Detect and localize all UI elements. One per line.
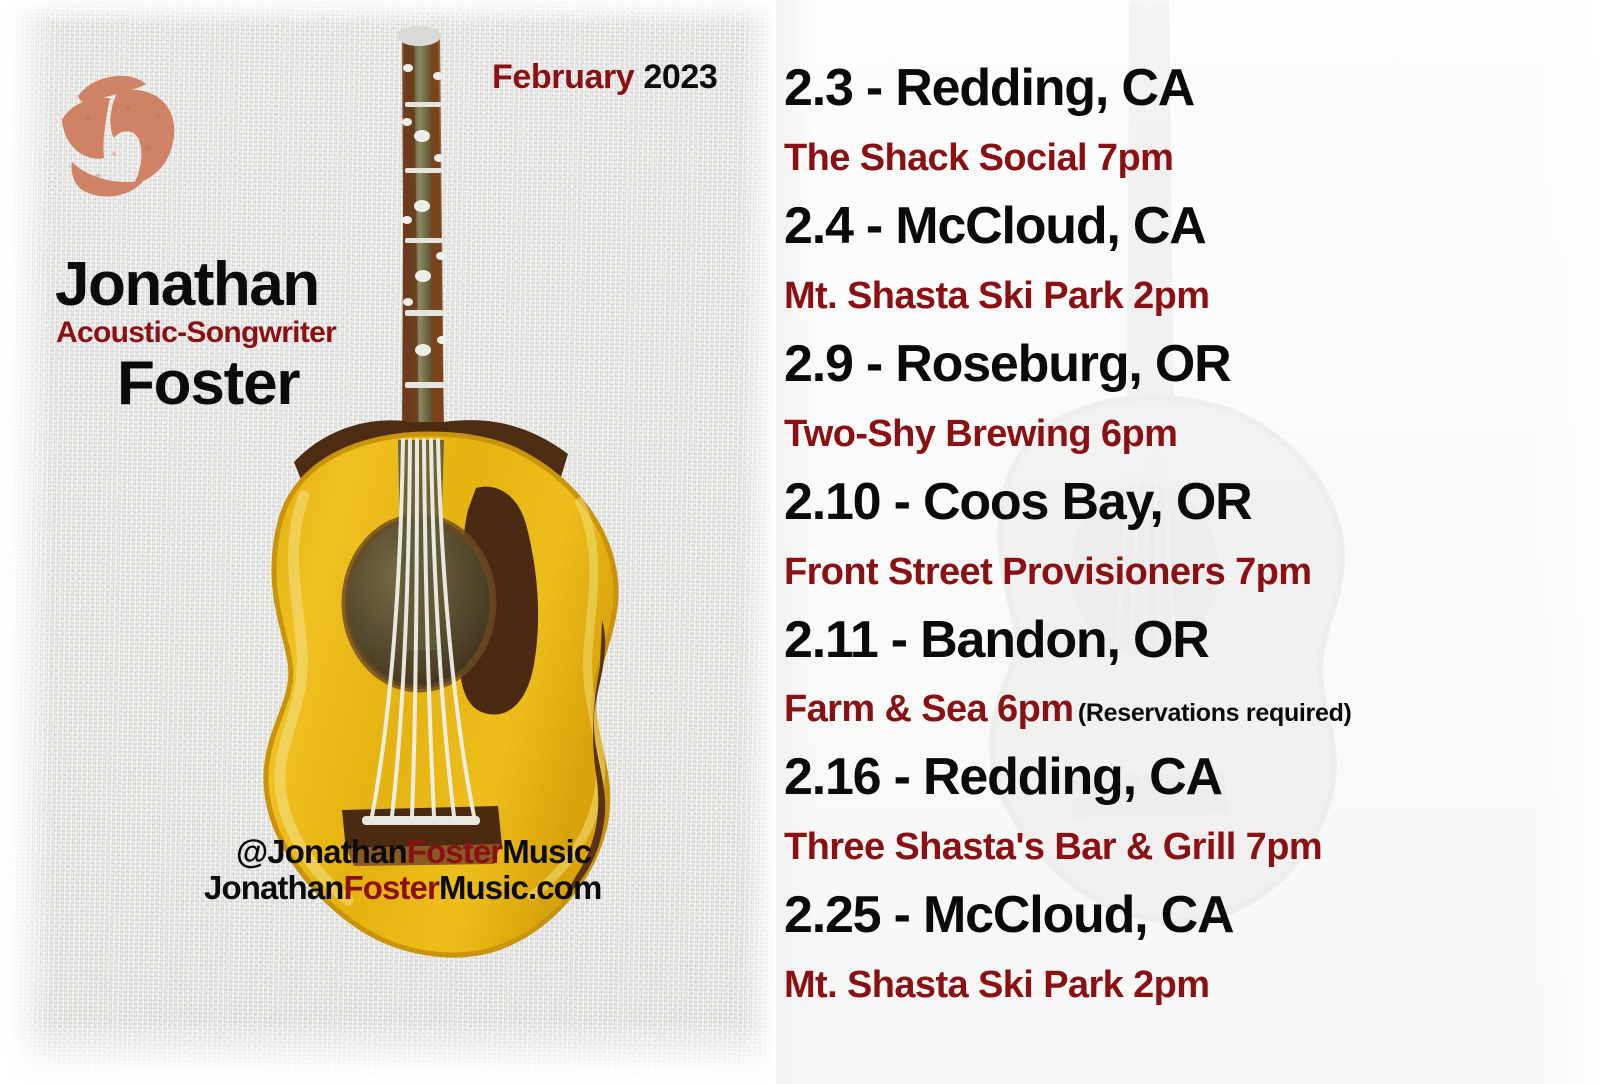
social-handle[interactable]: @JonathanFosterMusic — [236, 833, 591, 871]
handle-suffix: Music — [502, 833, 591, 870]
website-suffix: Music.com — [439, 869, 601, 906]
artist-first-name: Jonathan — [55, 249, 319, 320]
artist-last-name: Foster — [117, 348, 299, 419]
show-city-4: 2.11 - Bandon, OR — [784, 610, 1209, 670]
show-city-3: 2.10 - Coos Bay, OR — [784, 472, 1252, 532]
show-venue-2: Two-Shy Brewing 6pm — [784, 413, 1177, 456]
tour-poster: February 2023 Jonathan Acoustic-Songwrit… — [0, 0, 1600, 1084]
show-city-0: 2.3 - Redding, CA — [784, 58, 1194, 118]
guitar-neck-edge-right — [430, 34, 444, 441]
jf-monogram-logo-icon — [48, 58, 188, 203]
show-venue-3: Front Street Provisioners 7pm — [784, 551, 1311, 594]
website-prefix: Jonathan — [204, 869, 343, 906]
month-label: February — [492, 58, 634, 96]
artist-descriptor: Acoustic-Songwriter — [56, 316, 336, 350]
website-highlight: Foster — [343, 869, 438, 906]
handle-highlight: Foster — [407, 833, 502, 870]
month-year-label: February 2023 — [492, 58, 717, 97]
tour-dates-panel: 2.3 - Redding, CA The Shack Social 7pm 2… — [776, 0, 1600, 1084]
show-venue-note-4: (Reservations required) — [1078, 699, 1352, 727]
show-venue-1: Mt. Shasta Ski Park 2pm — [784, 275, 1209, 318]
show-city-1: 2.4 - McCloud, CA — [784, 196, 1206, 256]
show-city-5: 2.16 - Redding, CA — [784, 747, 1222, 807]
guitar-nut — [397, 26, 441, 46]
show-city-2: 2.9 - Roseburg, OR — [784, 334, 1230, 394]
show-venue-6: Mt. Shasta Ski Park 2pm — [784, 964, 1209, 1007]
year-label: 2023 — [643, 58, 717, 96]
handle-prefix: @Jonathan — [236, 833, 407, 870]
artwork-panel: February 2023 Jonathan Acoustic-Songwrit… — [0, 0, 776, 1084]
tour-date-list: 2.3 - Redding, CA The Shack Social 7pm 2… — [776, 0, 1600, 1084]
website-url[interactable]: JonathanFosterMusic.com — [204, 869, 601, 907]
show-venue-0: The Shack Social 7pm — [784, 137, 1173, 180]
guitar-bridge-saddle — [362, 816, 480, 825]
show-venue-row-4: Farm & Sea 6pm (Reservations required) — [784, 688, 1352, 731]
show-venue-4: Farm & Sea 6pm — [784, 688, 1073, 730]
show-city-6: 2.25 - McCloud, CA — [784, 885, 1233, 945]
show-venue-5: Three Shasta's Bar & Grill 7pm — [784, 826, 1322, 869]
